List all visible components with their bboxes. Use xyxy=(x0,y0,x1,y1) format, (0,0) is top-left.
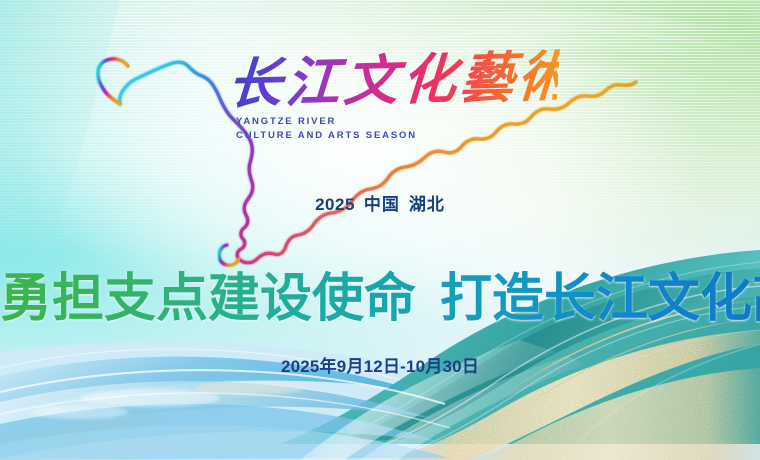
poster-canvas: 长江文化藝術季 YANGTZE RIVER CULTURE AND ARTS S… xyxy=(0,0,760,460)
english-title-line2: CULTURE AND ARTS SEASON xyxy=(236,129,417,143)
main-headline: 勇担支点建设使命打造长江文化高地 xyxy=(0,268,760,330)
calligraphy-title: 长江文化藝術季 xyxy=(225,40,560,120)
river-path-headwater xyxy=(98,59,128,104)
english-title-block: YANGTZE RIVER CULTURE AND ARTS SEASON xyxy=(236,115,417,143)
year-location-line: 2025中国湖北 xyxy=(0,190,760,215)
english-title-line1: YANGTZE RIVER xyxy=(236,115,417,129)
province-text: 湖北 xyxy=(409,195,445,214)
country-text: 中国 xyxy=(364,195,400,214)
year-text: 2025 xyxy=(315,195,355,214)
date-range-text: 2025年9月12日-10月30日 xyxy=(0,352,760,377)
headline-part-1: 勇担支点建设使命 xyxy=(0,270,416,328)
headline-part-2: 打造长江文化高地 xyxy=(440,270,760,328)
